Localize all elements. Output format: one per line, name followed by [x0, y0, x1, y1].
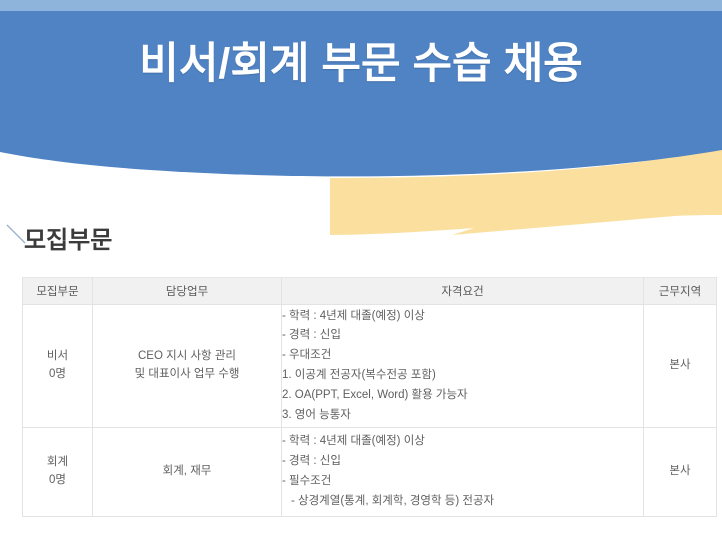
duty-line: 회계, 재무 — [93, 463, 281, 481]
qualification-line: - 경력 : 신입 — [282, 452, 643, 472]
qualification-line: - 우대조건 — [282, 346, 643, 366]
table-row: 회계 0명 회계, 재무 - 학력 : 4년제 대졸(예정) 이상 - 경력 :… — [23, 428, 717, 517]
column-header-area: 근무지역 — [644, 278, 717, 305]
page-title: 비서/회계 부문 수습 채용 — [0, 39, 722, 90]
qualification-line: 2. OA(PPT, Excel, Word) 활용 가능자 — [282, 386, 643, 406]
column-header-qualification: 자격요건 — [282, 278, 644, 305]
banner-shapes — [0, 0, 722, 235]
recruitment-table: 모집부문 담당업무 자격요건 근무지역 비서 0명 CEO 지시 사항 관리 및… — [22, 277, 717, 517]
qualification-line: - 학력 : 4년제 대졸(예정) 이상 — [282, 432, 643, 452]
duty-line: 및 대표이사 업무 수행 — [93, 366, 281, 384]
header-banner: 비서/회계 부문 수습 채용 — [0, 0, 722, 235]
cell-qualification: - 학력 : 4년제 대졸(예정) 이상 - 경력 : 신입 - 우대조건 1.… — [282, 305, 644, 428]
banner-top-strip — [0, 0, 722, 11]
part-count: 0명 — [23, 472, 92, 490]
section-heading: 모집부문 — [24, 228, 112, 254]
qualification-line: - 필수조건 — [282, 472, 643, 492]
duty-line: CEO 지시 사항 관리 — [93, 348, 281, 366]
cell-duty: 회계, 재무 — [93, 428, 282, 517]
cell-area: 본사 — [644, 428, 717, 517]
qualification-line: - 상경계열(통계, 회계학, 경영학 등) 전공자 — [282, 492, 643, 512]
cell-duty: CEO 지시 사항 관리 및 대표이사 업무 수행 — [93, 305, 282, 428]
part-name: 비서 — [23, 348, 92, 366]
cell-qualification: - 학력 : 4년제 대졸(예정) 이상 - 경력 : 신입 - 필수조건 - … — [282, 428, 644, 517]
part-count: 0명 — [23, 366, 92, 384]
qualification-line: 1. 이공계 전공자(복수전공 포함) — [282, 366, 643, 386]
cell-area: 본사 — [644, 305, 717, 428]
qualification-line: - 학력 : 4년제 대졸(예정) 이상 — [282, 307, 643, 327]
recruitment-table-wrapper: 모집부문 담당업무 자격요건 근무지역 비서 0명 CEO 지시 사항 관리 및… — [22, 277, 716, 517]
qualification-line: 3. 영어 능통자 — [282, 406, 643, 426]
part-name: 회계 — [23, 454, 92, 472]
cell-part: 회계 0명 — [23, 428, 93, 517]
table-header-row: 모집부문 담당업무 자격요건 근무지역 — [23, 278, 717, 305]
banner-blue-body — [0, 11, 722, 176]
column-header-part: 모집부문 — [23, 278, 93, 305]
cell-part: 비서 0명 — [23, 305, 93, 428]
qualification-line: - 경력 : 신입 — [282, 326, 643, 346]
column-header-duty: 담당업무 — [93, 278, 282, 305]
table-row: 비서 0명 CEO 지시 사항 관리 및 대표이사 업무 수행 - 학력 : 4… — [23, 305, 717, 428]
